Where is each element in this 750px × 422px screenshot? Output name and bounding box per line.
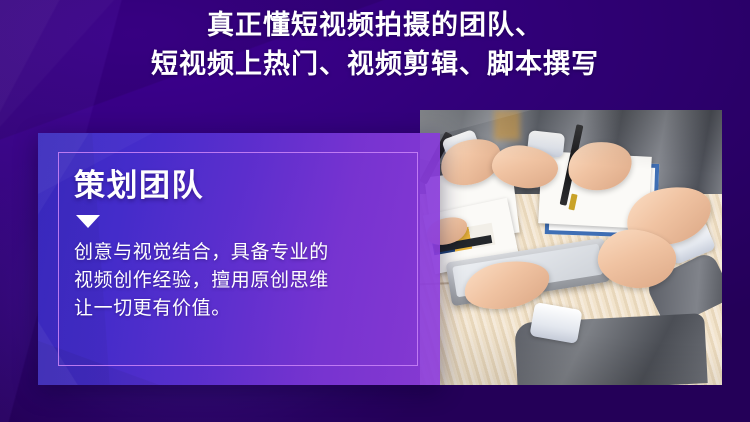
- banner-headline: 真正懂短视频拍摄的团队、 短视频上热门、视频剪辑、脚本撰写: [0, 6, 750, 84]
- headline-line-1: 真正懂短视频拍摄的团队、: [0, 6, 750, 45]
- photo-desk-surface: [420, 110, 722, 385]
- card-title: 策划团队: [74, 169, 406, 203]
- card-description-line-3: 让一切更有价值。: [74, 295, 406, 323]
- card-description-line-1: 创意与视觉结合，具备专业的: [74, 239, 406, 267]
- headline-line-2: 短视频上热门、视频剪辑、脚本撰写: [0, 45, 750, 84]
- promo-banner: 真正懂短视频拍摄的团队、 短视频上热门、视频剪辑、脚本撰写 策划团队 创意与视觉…: [0, 0, 750, 422]
- team-meeting-photo: [420, 110, 722, 385]
- info-card: 策划团队 创意与视觉结合，具备专业的 视频创作经验，擅用原创思维 让一切更有价值…: [38, 133, 440, 385]
- card-description-line-2: 视频创作经验，擅用原创思维: [74, 267, 406, 295]
- triangle-down-icon: [76, 215, 100, 228]
- photo-background-gap: [494, 110, 520, 140]
- card-description: 创意与视觉结合，具备专业的 视频创作经验，擅用原创思维 让一切更有价值。: [74, 239, 406, 323]
- card-content: 策划团队 创意与视觉结合，具备专业的 视频创作经验，擅用原创思维 让一切更有价值…: [74, 169, 406, 323]
